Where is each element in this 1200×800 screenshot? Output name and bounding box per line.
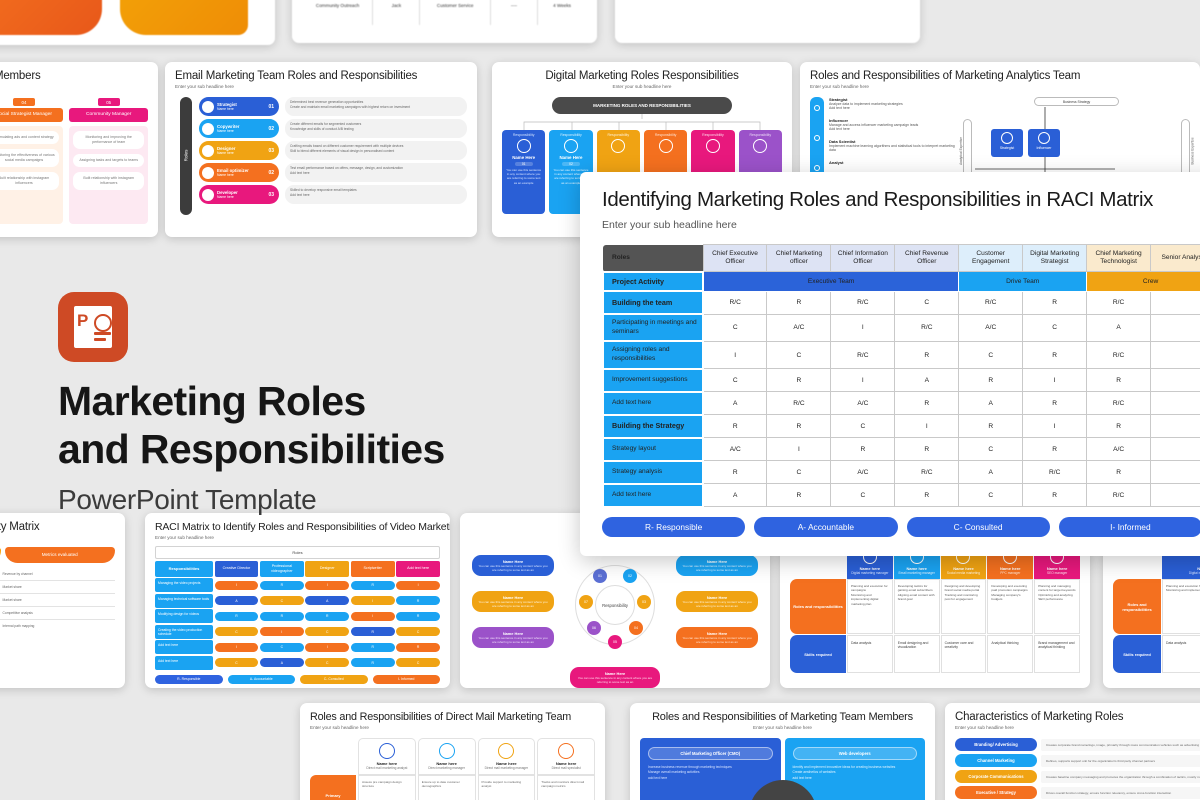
raci-cell: C (305, 627, 349, 636)
row-label: Add text here (155, 640, 213, 654)
column-header: Designer (305, 561, 349, 577)
card-item: Monitoring the effectiveness of various … (0, 149, 59, 167)
raci-cell: A/C (767, 314, 831, 341)
raci-cell: C (959, 341, 1023, 368)
raci-cell: R (703, 461, 767, 484)
thumbnail-team-members-bottom[interactable]: Roles and Responsibilities of Marketing … (630, 703, 935, 800)
raci-cell: I (831, 314, 895, 341)
item-label: Channel Marketing (955, 754, 1037, 767)
row-label: Assigning roles and responsibilities (603, 341, 703, 368)
raci-cell: R (703, 415, 767, 438)
legend-item[interactable]: R- Responsible (155, 675, 223, 684)
column-header: Digital Marketing Strategist (1023, 245, 1087, 272)
raci-cell: A (895, 369, 959, 392)
wheel-segment[interactable]: 02 (623, 569, 637, 583)
thumbnail-title: Digital Marketing Roles Responsibilities (502, 70, 782, 82)
raci-cell: I (351, 596, 395, 605)
roles-header: Roles (603, 245, 703, 272)
card-number: 04 (13, 98, 35, 106)
card-item: Assigning tasks and targets to teams (73, 154, 144, 167)
thumbnail-subtitle: headline here (0, 84, 148, 89)
hero-subtitle: PowerPoint Template (58, 484, 488, 516)
card-tag: Responsibility (742, 133, 779, 137)
thumbnail-subtitle: Enter your sub headline here (955, 725, 1200, 730)
card-number: 02 (562, 162, 580, 166)
cell-skill: Analytical thinking (987, 635, 1033, 673)
item-desc: Creates baseline company messaging and p… (1041, 771, 1200, 783)
wheel-segment[interactable]: 01 (593, 569, 607, 583)
characteristics-list: Branding/ Advertising Creates corporate … (955, 738, 1200, 800)
table-header-row: Roles Chief Executive Officer Chief Mark… (603, 245, 1200, 272)
cell-bullet: Monitoring and implementing digital mark… (851, 593, 889, 606)
column-header: Creative Director (215, 561, 259, 577)
raci-cell: R (396, 596, 440, 605)
slide-title: Identifying Marketing Roles and Responsi… (602, 188, 1200, 212)
table-row: Strategy layout A/C I R R C R A/C (603, 438, 1200, 461)
thumbnail-orange-top-left[interactable] (0, 0, 275, 45)
raci-cell: C (215, 658, 259, 667)
item-desc: Drives overall function strategy, ensure… (1041, 787, 1200, 799)
raci-cell: R (396, 612, 440, 621)
column-header: Professional videographer (260, 561, 304, 577)
legend-informed[interactable]: I- Informed (1059, 517, 1200, 537)
raci-cell: A (703, 484, 767, 507)
column-header: Senior Analyst (1151, 245, 1200, 272)
column-header: Responsibilities (155, 561, 213, 577)
node-label: Influencer (1028, 146, 1060, 150)
page-title: Marketing Roles and Responsibilities (58, 378, 488, 474)
raci-cell: R/C (1087, 341, 1151, 368)
side-label: Roles (184, 150, 189, 162)
role-bullet: Add text here (829, 106, 957, 110)
table-row: Managing the video projects I R I R I (155, 578, 440, 592)
raci-cell: R (1087, 461, 1151, 484)
matrix-cell: Competitive analysis (3, 611, 116, 615)
member-card[interactable]: 05 Community Manager Monitoring and impr… (69, 98, 148, 231)
raci-legend: R- Responsible A- Accountable C- Consult… (602, 517, 1200, 537)
card-body: You can use this sentence in any content… (505, 168, 542, 185)
table-cell: 4 Weeks (537, 3, 587, 8)
cell-skill: Customer care and creativity (941, 635, 987, 673)
legend-consulted[interactable]: C- Consulted (907, 517, 1050, 537)
column-card[interactable]: Name here Direct marketing manager (418, 738, 476, 775)
raci-cell: C (1023, 314, 1087, 341)
column-header: Scriptwriter (351, 561, 395, 577)
cell-skill: Email designing and visualization (894, 635, 940, 673)
row-label: Building the team (603, 291, 703, 314)
column-role: SEO manager (1035, 571, 1079, 575)
cell-bullet: Developing and executing paid promotion … (991, 584, 1029, 593)
wheel-card[interactable]: Name Here You can use this sentence in a… (472, 555, 554, 576)
raci-cell: I (767, 438, 831, 461)
wheel-card[interactable]: Name Here You can use this sentence in a… (472, 591, 554, 612)
raci-cell: R/C (1087, 392, 1151, 415)
raci-cell: R (1087, 369, 1151, 392)
panel-bullet: add text here (793, 776, 918, 781)
column-role: Direct mail marketing manager (481, 766, 533, 770)
group-row-label: Project Activity (603, 272, 703, 291)
cell-bullet: Provide support to marketing analyst (478, 775, 536, 800)
role-row[interactable]: StrategistName here 01 Determined best r… (199, 97, 467, 116)
raci-cell: R (1023, 438, 1087, 461)
matrix-cell: Market share (3, 598, 116, 602)
role-row[interactable]: CopywriterName here 02 Create different … (199, 119, 467, 138)
role-bullet: Add text here (829, 127, 957, 131)
responsibility-card[interactable]: Responsibility Name Here 01 You can use … (502, 130, 545, 214)
raci-cell: R (396, 643, 440, 652)
raci-cell: C (831, 415, 895, 438)
member-card[interactable]: 04 Social Strategist Manager Formulating… (0, 98, 63, 231)
card-item: Built relationship with instagram influe… (0, 172, 59, 190)
cell-bullet: Managing company's budgets (991, 593, 1029, 602)
row-label: Add text here (603, 392, 703, 415)
raci-cell: A (1087, 314, 1151, 341)
wheel-segment[interactable]: 04 (629, 621, 643, 635)
thumbnail-team-members-left[interactable]: of Marketing Team Members headline here … (0, 62, 158, 237)
matrix-header: Metrics evaluated (5, 547, 116, 563)
hero-block: P Marketing Roles and Responsibilities P… (58, 292, 488, 516)
item-label: Branding/ Advertising (955, 738, 1037, 751)
column-role: Direct mail specialist (540, 766, 592, 770)
thumbnail-title: Roles and Responsibilities of Marketing … (810, 70, 1190, 82)
raci-cell (1151, 314, 1200, 341)
thumbnail-email-marketing[interactable]: Email Marketing Team Roles and Responsib… (165, 62, 477, 237)
raci-cell: R/C (1087, 484, 1151, 507)
row-label: Strategy layout (603, 438, 703, 461)
column-role: PPC manager (988, 571, 1032, 575)
raci-cell: A (305, 596, 349, 605)
raci-cell: C (396, 627, 440, 636)
table-cell: Jack (373, 3, 419, 8)
quadrant-node[interactable]: Strategist (991, 129, 1023, 157)
wheel-card[interactable]: Name Here You can use this sentence in a… (676, 627, 758, 648)
raci-cell: C (767, 341, 831, 368)
matrix-cell: Internal path mapping (3, 624, 116, 628)
role-row[interactable]: DeveloperName here 03 Skilled to develop… (199, 185, 467, 204)
table-row: Improvement suggestions C R I A R I R (603, 369, 1200, 392)
raci-cell: I (1023, 415, 1087, 438)
axis-top-label: Business Strategy (1034, 97, 1119, 106)
thumbnail-process-table[interactable]: Design and Content Jack Design and Aesth… (292, 0, 597, 43)
raci-cell: R (767, 291, 831, 314)
card-body: You can use this sentence in any content… (575, 676, 655, 684)
row-label: Primary (310, 775, 356, 800)
thumbnail-characteristics[interactable]: Characteristics of Marketing Roles Enter… (945, 703, 1200, 800)
card-tag: Responsibility (647, 133, 684, 137)
cell-bullet: Tracking and monitoring post for engagem… (945, 593, 983, 602)
role-bullet: Skill to blend different elements of vis… (290, 149, 462, 154)
panel-tag: Chief Marketing Officer (CMO) (648, 747, 773, 760)
item-label: Corporate Communications (955, 770, 1037, 783)
thumbnail-title: Characteristics of Marketing Roles (955, 711, 1200, 723)
raci-cell: R (895, 484, 959, 507)
role-number: 02 (268, 126, 274, 132)
raci-cell (1151, 392, 1200, 415)
raci-cell: R (351, 627, 395, 636)
card-number: 05 (98, 98, 120, 106)
raci-cell (1151, 341, 1200, 368)
hero-title-line1: Marketing Roles (58, 378, 366, 424)
wheel-card[interactable]: Name Here You can use this sentence in a… (676, 555, 758, 576)
card-name: Name Here (552, 155, 589, 160)
raci-cell: A/C (959, 314, 1023, 341)
raci-cell (1151, 461, 1200, 484)
cell-bullet: Designing and developing brand social me… (945, 584, 983, 593)
row-label: Add text here (155, 656, 213, 670)
raci-cell: C (959, 484, 1023, 507)
connector-lines (502, 114, 782, 130)
list-item[interactable]: Branding/ Advertising Creates corporate … (955, 738, 1200, 751)
role-number: 01 (268, 104, 274, 110)
card-item: Formulating ads and content strategy (0, 131, 59, 144)
role-bullet: Create and maintain email marketing camp… (290, 105, 462, 110)
cell-bullet: Assess pre campaign design structure (358, 775, 416, 800)
legend-responsible[interactable]: R- Responsible (602, 517, 745, 537)
wheel-card[interactable]: Name Here You can use this sentence in a… (472, 627, 554, 648)
thumbnail-direct-mail[interactable]: Roles and Responsibilities of Direct Mai… (300, 703, 605, 800)
raci-cell: A (215, 596, 259, 605)
row-label: Improvement suggestions (603, 369, 703, 392)
cell-bullet: Ensure up to date customer demographics (418, 775, 476, 800)
role-name: Name here (217, 195, 268, 199)
raci-cell: I (260, 627, 304, 636)
list-item[interactable]: Channel Marketing Defines, supports supp… (955, 754, 1200, 767)
role-number: 03 (268, 192, 274, 198)
video-raci-header: Responsibilities Creative Director Profe… (155, 561, 440, 577)
column-card[interactable]: Name here Direct mail marketing analyst (358, 738, 416, 775)
column-header: Chief Marketing Technologist (1087, 245, 1151, 272)
raci-cell (1151, 291, 1200, 314)
cell-skill: Brand management and analytical thinking (1034, 635, 1080, 673)
row-label: Modifying design for videos (155, 609, 213, 623)
role-number: 03 (268, 148, 274, 154)
raci-cell: R/C (895, 314, 959, 341)
legend-accountable[interactable]: A- Accountable (754, 517, 897, 537)
cell-skill: Data analysis (847, 635, 893, 673)
card-name: Social Strategist Manager (0, 108, 63, 122)
column-role: Direct mail marketing analyst (361, 766, 413, 770)
role-row[interactable]: DesignerName here 03 Crafting emails bas… (199, 141, 467, 160)
cell-bullet: Monitoring and implementing digital mark… (1166, 588, 1200, 592)
card-body: You can use this sentence in any content… (681, 636, 753, 644)
group-label: Executive Team (703, 272, 959, 291)
raci-matrix-slide[interactable]: Identifying Marketing Roles and Responsi… (580, 172, 1200, 556)
matrix-body: Revenue by channel Market share Market s… (0, 568, 115, 632)
card-number: 01 (515, 162, 533, 166)
raci-cell: R/C (767, 392, 831, 415)
panel-tag: Web developers (793, 747, 918, 760)
column-header: Customer Engagement (959, 245, 1023, 272)
raci-cell: R/C (895, 461, 959, 484)
raci-cell (1151, 438, 1200, 461)
node-label: Strategist (991, 146, 1023, 150)
table-row: Modifying design for videos R R R I R (155, 609, 440, 623)
column-header: Chief Marketing officer (767, 245, 831, 272)
cell-bullet: Aligning email content with brand goal (898, 593, 936, 602)
wheel-center-label: Responsibility (595, 585, 635, 625)
raci-cell: C (831, 484, 895, 507)
powerpoint-logo-icon: P (58, 292, 128, 362)
raci-cell: A (260, 658, 304, 667)
wheel-card[interactable]: Name Here You can use this sentence in a… (570, 667, 660, 688)
cell-bullet: Optimizing and analyzing SEO performance (1038, 593, 1076, 602)
card-body: You can use this sentence in any content… (477, 564, 549, 572)
role-row[interactable]: Email optimizerName here 02 Test email p… (199, 163, 467, 182)
raci-cell: R (1023, 484, 1087, 507)
table-cell: ---- (491, 3, 537, 8)
row-label: Building the Strategy (603, 415, 703, 438)
column-role: Email marketing manager (895, 571, 939, 575)
thumbnail-title: Email Marketing Team Roles and Responsib… (175, 70, 467, 82)
raci-cell: I (1023, 369, 1087, 392)
table-row: Creating the video production schedule C… (155, 625, 440, 639)
raci-cell: I (305, 581, 349, 590)
raci-cell: I (351, 612, 395, 621)
table-cell: Customer Service (420, 3, 491, 8)
matrix-cell: Revenue by channel (3, 572, 116, 576)
cell-bullet: Planning and execution for campaigns (851, 584, 889, 593)
thumbnail-title: ponsibility Matrix (0, 521, 115, 533)
card-item: Built relationship with instagram influe… (73, 172, 144, 190)
raci-cell: R/C (831, 341, 895, 368)
role-number: 02 (268, 170, 274, 176)
raci-cell: R (260, 612, 304, 621)
raci-cell: C (215, 627, 259, 636)
raci-cell (1151, 415, 1200, 438)
table-row: Strategy analysis R C A/C R/C A R/C R (603, 461, 1200, 484)
role-name: Name here (217, 129, 268, 133)
member-card-list: 03 Content WriterManager 04 Social Strat… (0, 98, 148, 231)
card-body: You can use this sentence in any content… (681, 564, 753, 572)
raci-cell: R (215, 612, 259, 621)
list-item[interactable]: Executive / Strategy Drives overall func… (955, 786, 1200, 799)
raci-cell: R (959, 415, 1023, 438)
hub-node[interactable]: MARKETING ROLES AND RESPONSIBILITIES (552, 97, 732, 114)
row-label: Strategy analysis (603, 461, 703, 484)
raci-cell: R (767, 415, 831, 438)
column-card[interactable]: Name here Direct mail specialist (537, 738, 595, 775)
row-label: Managing the video projects (155, 578, 213, 592)
raci-cell: C (895, 291, 959, 314)
table-row: Managing technical software tools A C A … (155, 594, 440, 608)
slide-gallery-canvas: Design and Content Jack Design and Aesth… (0, 0, 1200, 800)
card-body: You can use this sentence in any content… (681, 600, 753, 608)
thumbnail-responsibility-matrix[interactable]: ponsibility Matrix al technology used Me… (0, 513, 125, 688)
table-row: Assigning roles and responsibilities I C… (603, 341, 1200, 368)
role-title: Analyst (829, 160, 957, 165)
raci-cell: R/C (831, 291, 895, 314)
column-role: Digital marketing manager (1163, 571, 1200, 575)
role-row-list: StrategistName here 01 Determined best r… (199, 97, 467, 204)
role-bullet: Knowledge and skills of conduct A/B test… (290, 127, 462, 132)
raci-cell: C (305, 658, 349, 667)
table-row: Add text here A R C R C R R/C (603, 484, 1200, 507)
thumbnail-video-raci[interactable]: RACI Matrix to Identify Roles and Respon… (145, 513, 450, 688)
raci-cell: R (1023, 291, 1087, 314)
raci-cell: R (1023, 341, 1087, 368)
card-body: You can use this sentence in any content… (477, 600, 549, 608)
role-name: Name here (217, 151, 268, 155)
raci-cell (1151, 369, 1200, 392)
raci-table: Roles Chief Executive Officer Chief Mark… (602, 244, 1200, 508)
axis-right-label: Business Expertise (1190, 137, 1194, 164)
cell-bullet: Tracks and monitors direct mail campaign… (537, 775, 595, 800)
roles-side-bar: Roles (180, 97, 192, 215)
raci-cell: I (703, 341, 767, 368)
table-cell: Community Outreach (302, 3, 373, 8)
cell-bullet: Planning and managing content for target… (1038, 584, 1076, 593)
item-label: Executive / Strategy (955, 786, 1037, 799)
raci-cell: I (215, 643, 259, 652)
table-row: Add text here A R/C A/C R A R R/C (603, 392, 1200, 415)
row-label: Participating in meetings and seminars (603, 314, 703, 341)
wheel-segment[interactable]: 06 (587, 621, 601, 635)
raci-cell: C (396, 658, 440, 667)
legend-item[interactable]: C- Consulted (300, 675, 368, 684)
wheel-segment[interactable]: 07 (579, 595, 593, 609)
raci-cell: R/C (1023, 461, 1087, 484)
axis-left-label: Analytical Expertise (959, 137, 963, 165)
group-label: Drive Team (959, 272, 1087, 291)
matrix-header: al technology used (0, 547, 1, 563)
thumbnail-subtitle: Enter your sub headline here (810, 84, 1190, 89)
group-label: Crew (1087, 272, 1200, 291)
wheel-card[interactable]: Name Here You can use this sentence in a… (676, 591, 758, 612)
table-row: Participating in meetings and seminars C… (603, 314, 1200, 341)
card-tag: Responsibility (552, 133, 589, 137)
raci-cell: C (959, 438, 1023, 461)
skills-row-skills: Skills required Data analysis Email desi… (790, 635, 1080, 673)
raci-cell: A/C (831, 392, 895, 415)
raci-cell: C (260, 596, 304, 605)
row-label: Managing technical software tools (155, 594, 213, 608)
thumbnail-title: Roles and Responsibilities of Direct Mai… (310, 711, 595, 723)
column-card[interactable]: Name here Direct mail marketing manager (478, 738, 536, 775)
wheel-segment[interactable]: 03 (637, 595, 651, 609)
legend-item[interactable]: A- Accountable (228, 675, 296, 684)
thumbnail-digital-cards-top[interactable] (615, 0, 920, 43)
raci-cell: R (895, 438, 959, 461)
column-role: Digital marketing manager (848, 571, 892, 575)
thumbnail-subtitle: Enter your sub headline here (310, 725, 595, 730)
raci-cell: R (895, 392, 959, 415)
row-label: Add text here (603, 484, 703, 507)
thumbnail-title: of Marketing Team Members (0, 70, 148, 82)
raci-cell: A/C (831, 461, 895, 484)
column-role: Social media marketing (942, 571, 986, 575)
column-header: Chief Executive Officer (703, 245, 767, 272)
raci-cell: C (703, 369, 767, 392)
raci-cell: R (831, 438, 895, 461)
roles-banner: Roles (155, 546, 440, 559)
raci-cell: A (703, 392, 767, 415)
raci-cell: R/C (959, 291, 1023, 314)
legend-item[interactable]: I- Informed (373, 675, 441, 684)
table-row: Building the Strategy R R C I R I R (603, 415, 1200, 438)
raci-cell (1151, 484, 1200, 507)
thumbnail-subtitle: Enter your sub headline here (175, 84, 467, 89)
list-item[interactable]: Corporate Communications Creates baselin… (955, 770, 1200, 783)
cell-bullet: Developing tactics for gaining email sub… (898, 584, 936, 593)
raci-cell: A/C (1087, 438, 1151, 461)
row-label: Roles and responsibilities (1113, 579, 1161, 634)
quadrant-node[interactable]: Influencer (1028, 129, 1060, 157)
thumbnail-subtitle: Enter your sub headline here (640, 725, 925, 730)
wheel-segment[interactable]: 05 (608, 635, 622, 649)
raci-cell: R (351, 658, 395, 667)
raci-cell: I (895, 415, 959, 438)
slide-subtitle: Enter your sub headline here (602, 219, 1200, 231)
